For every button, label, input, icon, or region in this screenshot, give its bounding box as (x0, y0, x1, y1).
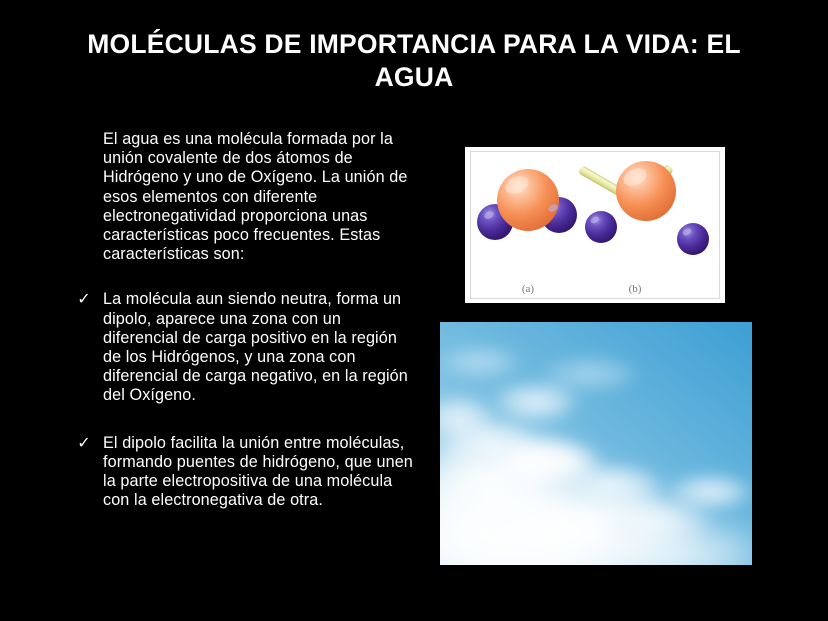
space-filling-model (477, 169, 577, 240)
water-molecule-illustration (465, 147, 725, 303)
slide: MOLÉCULAS DE IMPORTANCIA PARA LA VIDA: E… (0, 0, 828, 621)
figure-caption-a: (a) (508, 283, 548, 295)
ball-and-stick-model (578, 161, 709, 255)
paragraph-intro: El agua es una molécula formada por la u… (68, 130, 418, 264)
list-item-dipole-text: La molécula aun siendo neutra, forma un … (103, 290, 418, 405)
sky-clouds-illustration (440, 322, 752, 565)
page-title: MOLÉCULAS DE IMPORTANCIA PARA LA VIDA: E… (62, 28, 766, 94)
list-item-hydrogen-bond-text: El dipolo facilita la unión entre molécu… (103, 434, 418, 511)
figure-caption-b: (b) (615, 283, 655, 295)
checkmark-icon: ✓ (71, 434, 97, 453)
checkmark-icon: ✓ (71, 290, 97, 309)
paragraph-intro-text: El agua es una molécula formada por la u… (103, 130, 418, 264)
content-text-column: El agua es una molécula formada por la u… (68, 130, 418, 510)
list-item-hydrogen-bond: ✓ El dipolo facilita la unión entre molé… (68, 434, 418, 511)
list-item-dipole: ✓ La molécula aun siendo neutra, forma u… (68, 290, 418, 405)
water-molecule-figure: (a) (b) (465, 147, 725, 303)
sky-clouds-photo (440, 322, 752, 565)
